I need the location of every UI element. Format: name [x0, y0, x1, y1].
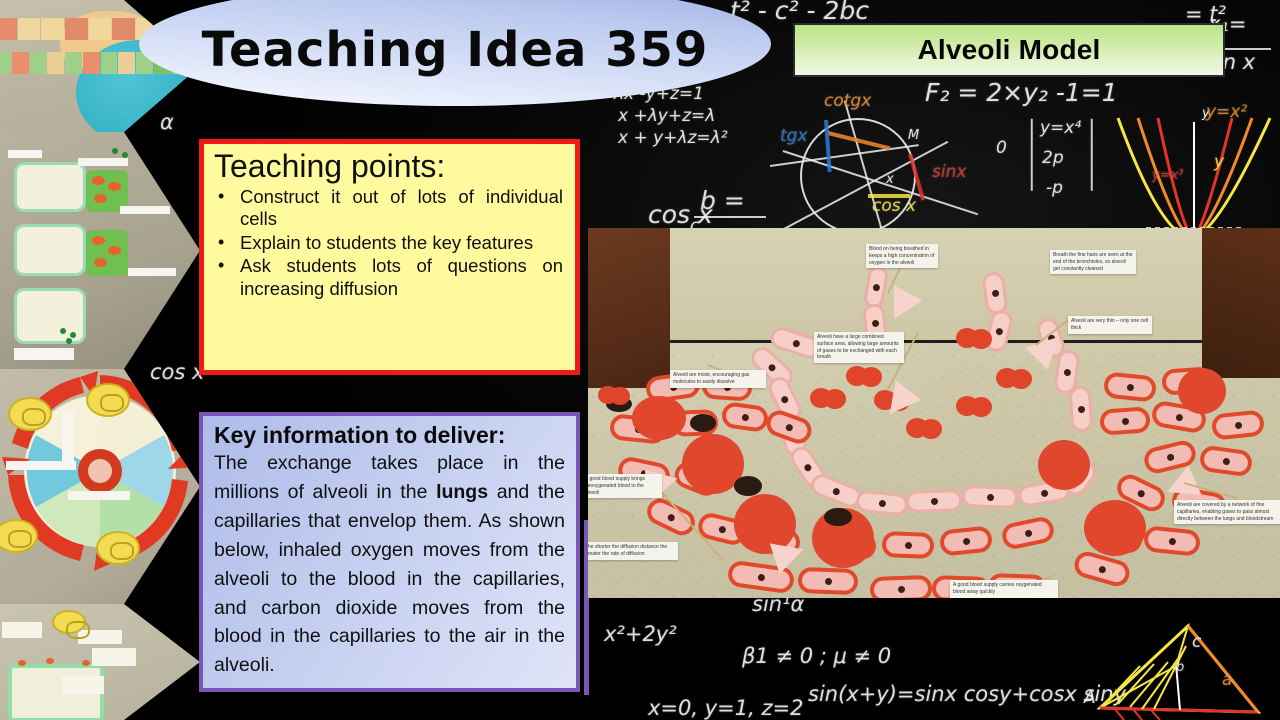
chalk-label: tgx	[780, 126, 808, 146]
page-title: Teaching Idea 359	[190, 22, 720, 78]
list-item-label: Ask students lots of questions on increa…	[240, 255, 563, 300]
chalk-label: sinx	[932, 162, 966, 182]
parabola-family	[1110, 110, 1280, 240]
chalk-equation: β1 ≠ 0 ; μ ≠ 0	[742, 644, 891, 668]
chalk-equation: -p	[1046, 178, 1063, 198]
photo-alveoli-model: Blood on being breathed in keeps a high …	[588, 228, 1280, 598]
chalk-equation: F₂ = 2×y₂ -1=1	[925, 78, 1118, 107]
slide-canvas: t² - c² - 2bc = t² λx -y+z=1 x +λy+z=λ x…	[0, 0, 1280, 720]
key-information-heading: Key information to deliver:	[214, 423, 565, 448]
bullet-icon: •	[214, 232, 240, 254]
list-item: • Construct it out of lots of individual…	[214, 186, 563, 231]
photo-caption: Alveoli are covered by a network of fine…	[1174, 500, 1280, 524]
model-header-label: Alveoli Model	[917, 34, 1100, 66]
photo-respiration-poster	[0, 604, 200, 720]
triangle-diagram	[1080, 608, 1280, 720]
chalk-equation: x²+2y²	[604, 622, 677, 646]
list-item-label: Explain to students the key features	[240, 232, 563, 255]
teaching-points-heading: Teaching points:	[214, 150, 563, 184]
teaching-points-panel: Teaching points: • Construct it out of l…	[199, 139, 580, 375]
chalk-equation: x +λy+z=λ	[618, 106, 715, 126]
photo-collage-strip	[0, 0, 200, 720]
key-information-panel: Key information to deliver: The exchange…	[199, 412, 580, 692]
key-information-body: The exchange takes place in the millions…	[214, 449, 565, 680]
chalk-equation: y=x⁴	[1040, 118, 1081, 138]
chalk-equation: 2p	[1042, 148, 1064, 168]
photo-caption: Alveoli are very thin – only one cell th…	[1068, 316, 1152, 334]
list-item: • Explain to students the key features	[214, 232, 563, 255]
key-body-emphasis: lungs	[436, 481, 488, 503]
chalk-equation: sin(x+y)=sinx cosy+cosx siny	[808, 682, 1126, 706]
photo-cycle-wheel-model	[0, 369, 200, 604]
model-header-banner: Alveoli Model	[793, 23, 1225, 77]
list-item-label: Construct it out of lots of individual c…	[240, 186, 563, 231]
photo-caption: A good blood supply carries oxygenated b…	[950, 580, 1058, 598]
key-body-part-2: and the capillaries that envelop them. A…	[214, 481, 565, 676]
chalk-equation: b =	[700, 186, 745, 215]
chalk-equation: x + y+λz=λ²	[618, 128, 728, 148]
photo-plant-cell-model	[0, 132, 200, 369]
chalk-label: M	[908, 128, 919, 143]
list-item: • Ask students lots of questions on incr…	[214, 255, 563, 300]
chalk-equation: cos x	[648, 200, 713, 229]
photo-caption: Alveoli are moist, encouraging gas molec…	[670, 370, 766, 388]
bullet-icon: •	[214, 186, 240, 208]
photo-caption: Alveoli have a large combined surface ar…	[814, 332, 904, 363]
photo-caption: A good blood supply brings deoxygenated …	[588, 474, 662, 498]
bullet-icon: •	[214, 255, 240, 277]
chalk-equation: x=0, y=1, z=2	[648, 696, 803, 720]
teaching-points-list: • Construct it out of lots of individual…	[214, 186, 563, 301]
photo-caption: Breath the fine hairs are seen at the en…	[1050, 250, 1136, 274]
chalk-equation: 0	[996, 138, 1007, 158]
photo-caption: The shorter the diffusion distance the g…	[588, 542, 678, 560]
photo-caption: Blood on being breathed in keeps a high …	[866, 244, 938, 268]
